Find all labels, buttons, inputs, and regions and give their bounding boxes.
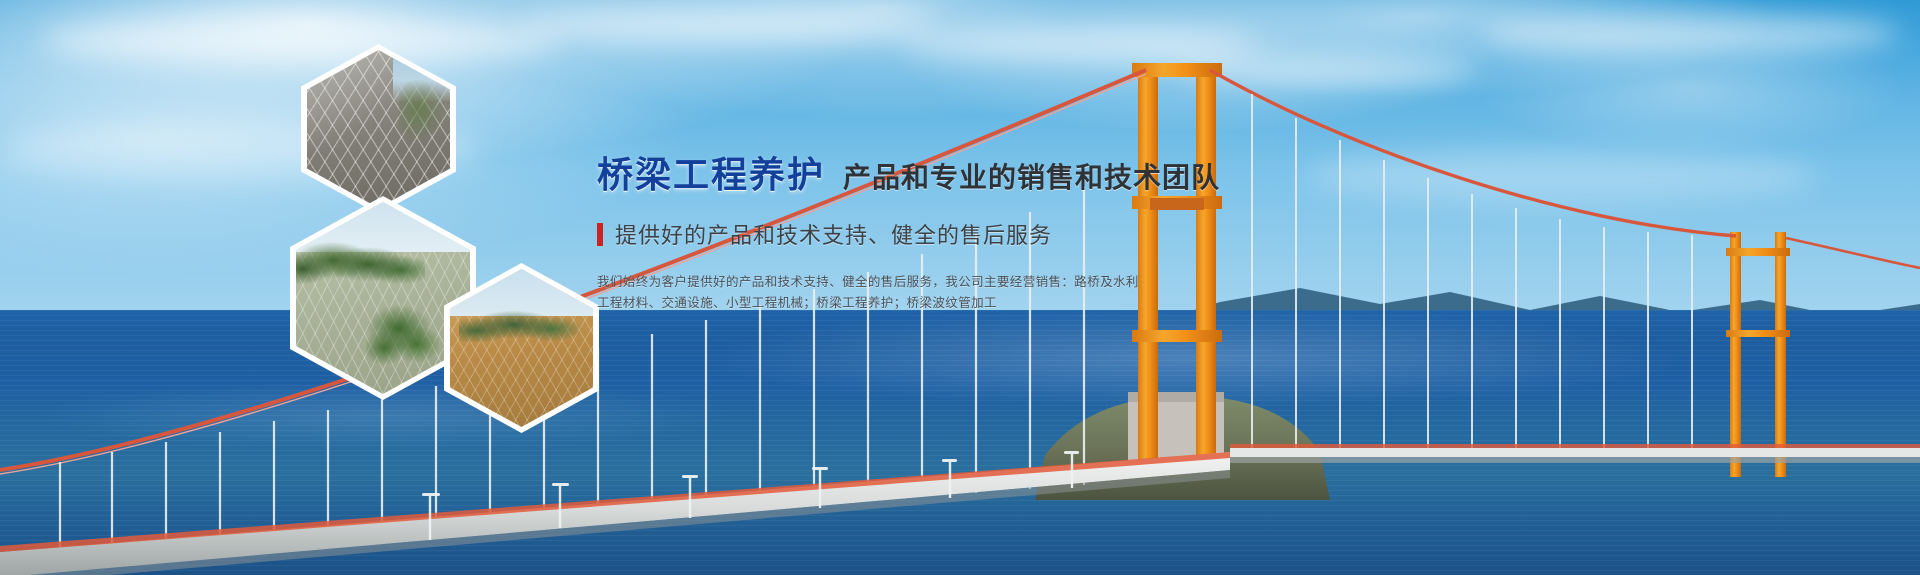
banner-copy: 桥梁工程养护 产品和专业的销售和技术团队 提供好的产品和技术支持、健全的售后服务… xyxy=(597,146,1297,314)
headline-main: 桥梁工程养护 xyxy=(597,146,825,198)
banner-headline: 桥梁工程养护 产品和专业的销售和技术团队 xyxy=(597,146,1297,198)
photo-content xyxy=(450,269,593,427)
accent-bar-icon xyxy=(597,223,603,246)
photo-content xyxy=(307,50,450,208)
hero-banner: 桥梁工程养护 产品和专业的销售和技术团队 提供好的产品和技术支持、健全的售后服务… xyxy=(0,0,1920,575)
photo-vegetation xyxy=(459,301,585,342)
photo-vegetation xyxy=(399,78,448,141)
hex-photo-clip xyxy=(307,50,450,208)
banner-tagline: 提供好的产品和技术支持、健全的售后服务 xyxy=(597,218,1297,250)
paragraph-line-2: 工程材料、交通设施、小型工程机械；桥梁工程养护；桥梁波纹管加工 xyxy=(597,293,1297,314)
headline-sub: 产品和专业的销售和技术团队 xyxy=(843,156,1220,196)
photo-forest xyxy=(296,229,425,287)
banner-paragraph: 我们始终为客户提供好的产品和技术支持、健全的售后服务，我公司主要经营销售：路桥及… xyxy=(597,272,1297,314)
hex-photo-clip xyxy=(450,269,593,427)
tagline-text: 提供好的产品和技术支持、健全的售后服务 xyxy=(615,218,1052,250)
hex-photo-clip xyxy=(296,202,470,394)
paragraph-line-1: 我们始终为客户提供好的产品和技术支持、健全的售后服务，我公司主要经营销售：路桥及… xyxy=(597,272,1297,293)
photo-content xyxy=(296,202,470,394)
